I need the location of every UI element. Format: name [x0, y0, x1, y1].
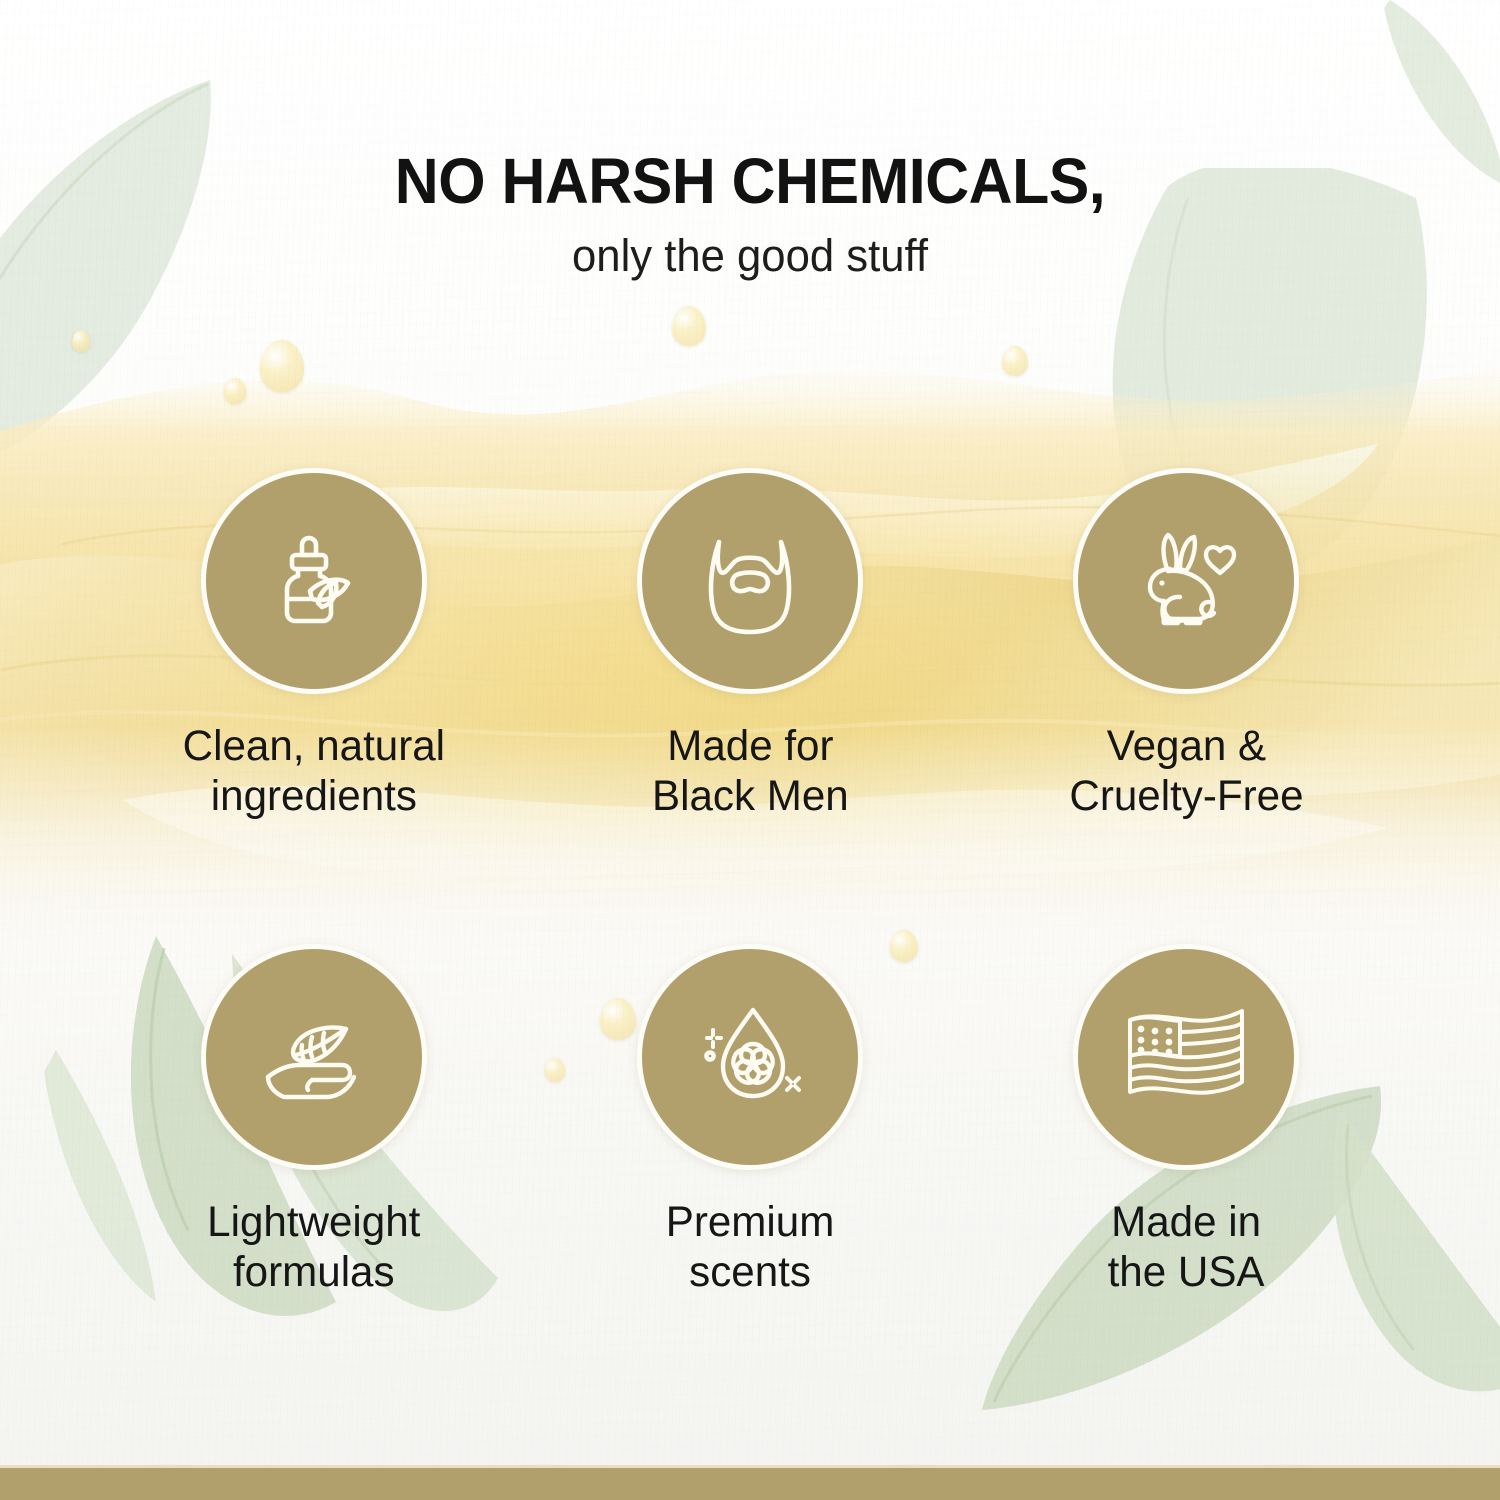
headings-block: NO HARSH CHEMICALS, only the good stuff	[0, 148, 1500, 280]
benefit-label: Clean, natural ingredients	[183, 722, 445, 822]
benefit-badge	[201, 468, 427, 694]
dropper-bottle-leaf-icon	[254, 521, 374, 641]
benefit-item-vegan-cruelty-free: Vegan & Cruelty-Free	[968, 468, 1404, 822]
page-title: NO HARSH CHEMICALS,	[38, 148, 1463, 215]
product-benefits-poster: NO HARSH CHEMICALS, only the good stuff	[0, 0, 1500, 1500]
benefit-item-made-for-black-men: Made for Black Men	[532, 468, 968, 822]
benefits-grid: Clean, natural ingredients Made for Blac…	[96, 468, 1404, 1298]
benefit-label: Vegan & Cruelty-Free	[1069, 722, 1303, 822]
hand-feather-icon	[250, 993, 378, 1121]
page-subtitle: only the good stuff	[23, 231, 1478, 281]
rabbit-heart-icon	[1124, 519, 1248, 643]
benefit-badge	[637, 944, 863, 1170]
beard-icon	[689, 520, 811, 642]
benefit-label: Made for Black Men	[652, 722, 849, 822]
benefit-item-clean-natural-ingredients: Clean, natural ingredients	[96, 468, 532, 822]
benefit-badge	[201, 944, 427, 1170]
benefit-item-made-in-the-usa: Made in the USA	[968, 944, 1404, 1298]
usa-flag-icon	[1122, 1002, 1250, 1112]
droplet-flower-icon	[687, 994, 813, 1120]
benefit-item-premium-scents: Premium scents	[532, 944, 968, 1298]
benefit-item-lightweight-formulas: Lightweight formulas	[96, 944, 532, 1298]
benefit-badge	[1073, 468, 1299, 694]
benefit-label: Premium scents	[666, 1198, 835, 1298]
benefit-badge	[637, 468, 863, 694]
benefit-badge	[1073, 944, 1299, 1170]
bottom-gold-bar	[0, 1468, 1500, 1500]
benefit-label: Lightweight formulas	[207, 1198, 420, 1298]
benefit-label: Made in the USA	[1108, 1198, 1265, 1298]
